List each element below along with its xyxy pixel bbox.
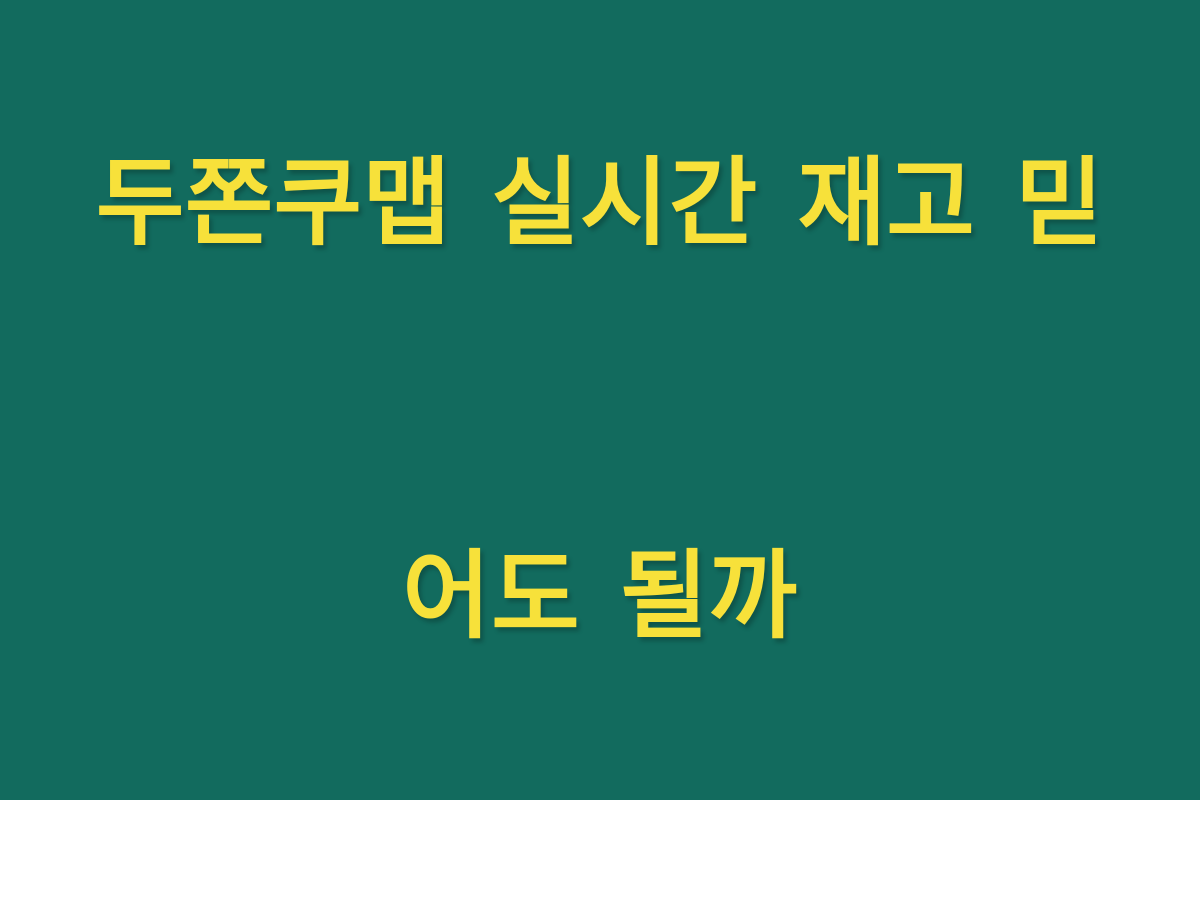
headline-line-2: 어도 될까 [80,531,1120,662]
headline-line-1: 두쫀쿠맵 실시간 재고 믿 [80,138,1120,269]
headline-text: 두쫀쿠맵 실시간 재고 믿 어도 될까 [80,0,1120,924]
banner-canvas: 두쫀쿠맵 실시간 재고 믿 어도 될까 [0,0,1200,800]
